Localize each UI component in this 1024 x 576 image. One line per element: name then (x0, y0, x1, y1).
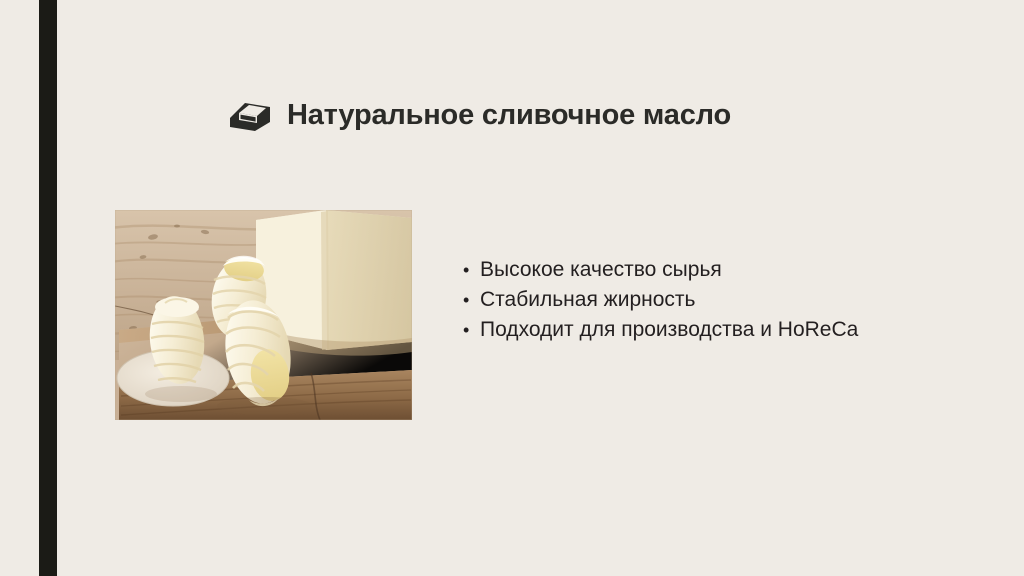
slide-title-row: Натуральное сливочное масло (228, 96, 731, 136)
feature-bullet-list: • Высокое качество сырья • Стабильная жи… (463, 255, 973, 345)
list-item: • Высокое качество сырья (463, 255, 973, 285)
butter-curls-on-wooden-board-photo (115, 210, 412, 420)
list-item-label: Стабильная жирность (480, 285, 695, 315)
presentation-slide: Натуральное сливочное масло (0, 0, 1024, 576)
bullet-marker-icon: • (463, 315, 480, 345)
page-title: Натуральное сливочное масло (287, 100, 731, 132)
bullet-marker-icon: • (463, 285, 480, 315)
list-item-label: Высокое качество сырья (480, 255, 722, 285)
list-item-label: Подходит для производства и HoReCa (480, 315, 858, 345)
butter-stick-icon (228, 96, 272, 136)
list-item: • Стабильная жирность (463, 285, 973, 315)
bullet-marker-icon: • (463, 255, 480, 285)
list-item: • Подходит для производства и HoReCa (463, 315, 973, 345)
left-accent-bar (39, 0, 57, 576)
